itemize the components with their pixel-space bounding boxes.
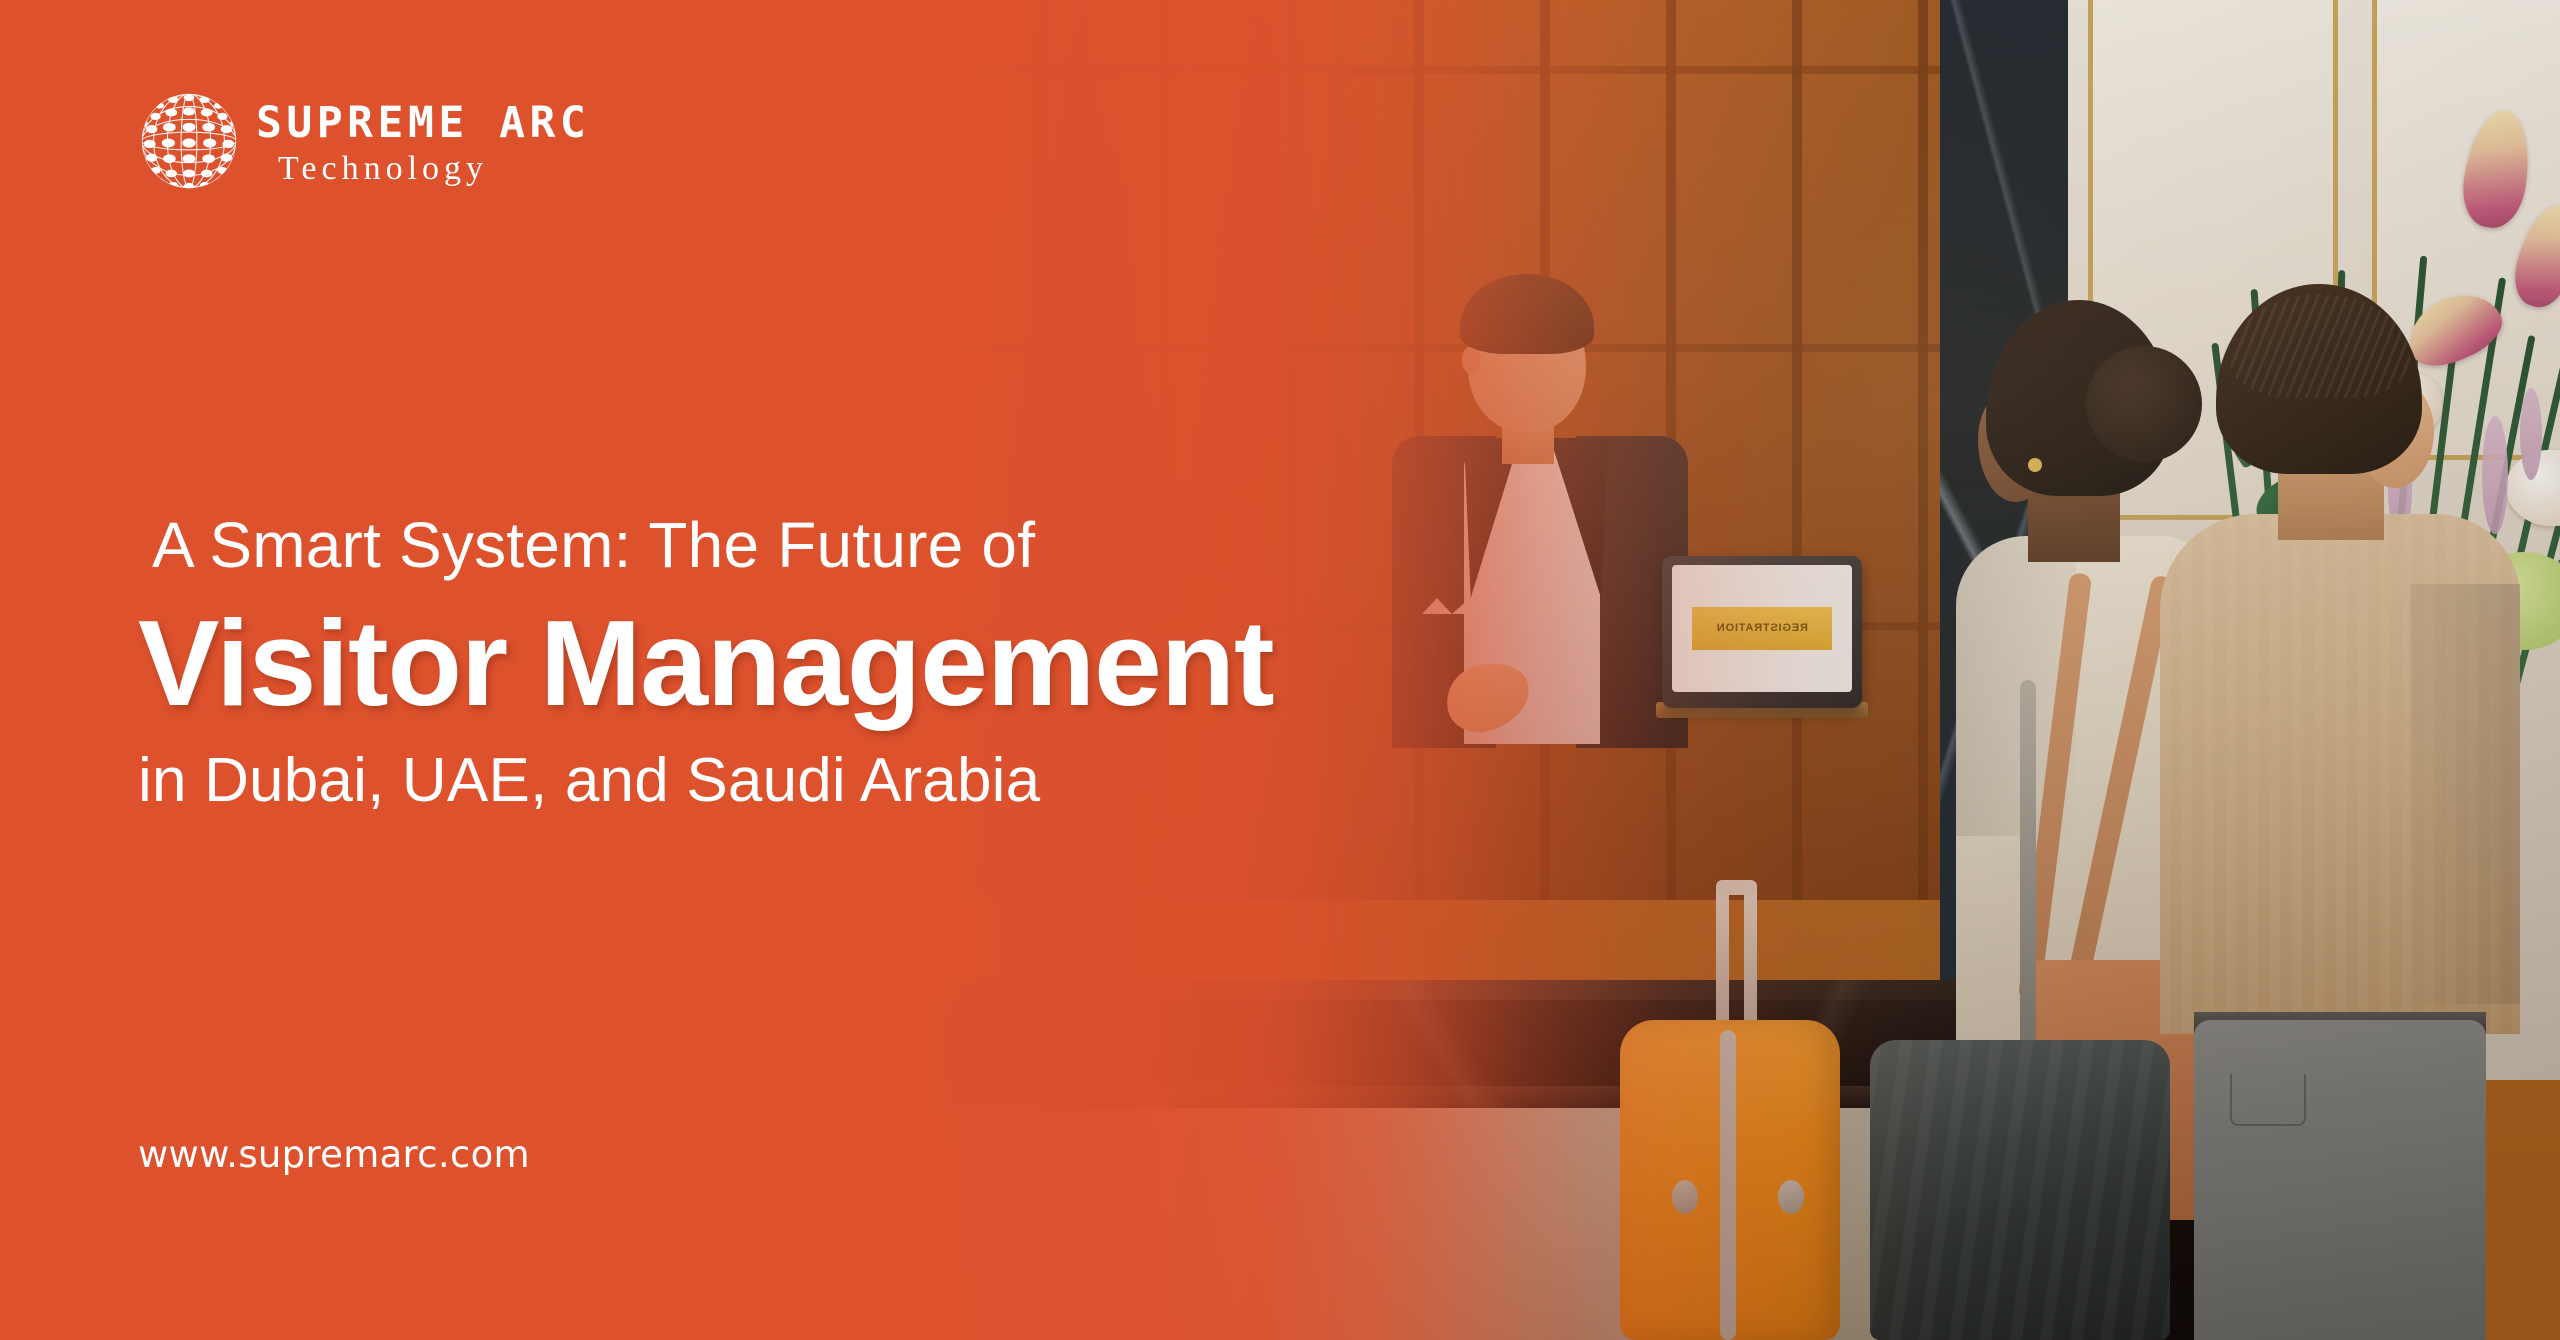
website-url[interactable]: www.supremarc.com — [138, 1133, 530, 1176]
brand-logo[interactable]: SUPREME ARC Technology — [130, 82, 590, 200]
headline-title: Visitor Management — [138, 596, 1558, 730]
headline-block: A Smart System: The Future of Visitor Ma… — [138, 510, 1558, 817]
headline-subtitle: in Dubai, UAE, and Saudi Arabia — [138, 746, 1558, 817]
banner-content: SUPREME ARC Technology A Smart System: T… — [0, 0, 2560, 1340]
headline-eyebrow: A Smart System: The Future of — [138, 510, 1558, 582]
dotted-globe-icon — [130, 82, 248, 200]
logo-wordmark: SUPREME ARC Technology — [256, 96, 590, 186]
brand-name: SUPREME ARC — [256, 102, 590, 145]
brand-tagline: Technology — [278, 152, 590, 186]
marketing-banner: REGISTRATION — [0, 0, 2560, 1340]
